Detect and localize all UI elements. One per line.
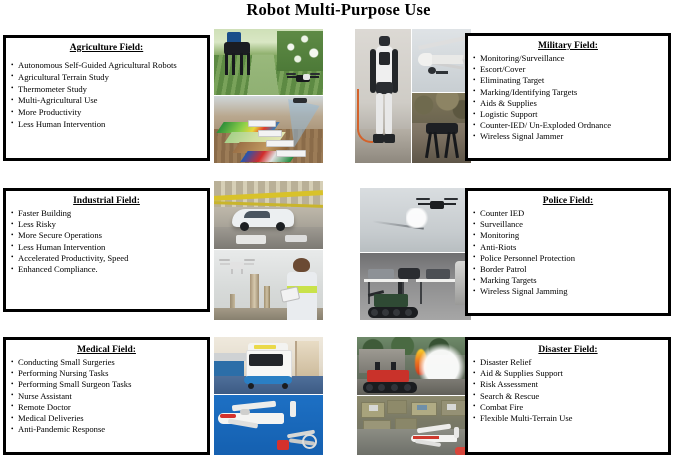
list-item: Agricultural Terrain Study xyxy=(11,72,202,84)
panel-list-industrial: Faster Building Less Risky More Secure O… xyxy=(11,208,202,275)
list-item: Monitoring xyxy=(473,230,663,241)
survey-aircraft-icon xyxy=(407,425,461,449)
panel-list-agriculture: Autonomous Self-Guided Agricultural Robo… xyxy=(11,60,202,131)
worker-icon xyxy=(285,258,321,320)
military-robot-dog-photo xyxy=(412,93,471,163)
panel-list-military: Monitoring/Surveillance Escort/Cover Eli… xyxy=(473,53,663,143)
list-item: More Secure Operations xyxy=(11,230,202,241)
agv-robot-icon xyxy=(236,235,266,244)
list-item: Logistic Support xyxy=(473,109,663,120)
eod-robot-icon xyxy=(368,288,420,318)
survey-drone-icon xyxy=(293,98,307,103)
list-item: More Productivity xyxy=(11,107,202,119)
panel-disaster: Disaster Field: Disaster Relief Aid & Su… xyxy=(465,337,671,455)
panel-title-medical: Medical Field: xyxy=(11,344,202,356)
list-item: Risk Assessment xyxy=(473,379,663,390)
list-item: Less Human Intervention xyxy=(11,119,202,131)
military-uav-photo xyxy=(412,29,471,92)
panel-police: Police Field: Counter IED Surveillance M… xyxy=(465,188,671,316)
counter-cabinet xyxy=(214,361,244,377)
list-item: Aid & Supplies Support xyxy=(473,368,663,379)
list-item: Marking Targets xyxy=(473,275,663,286)
list-item: Counter IED xyxy=(473,208,663,219)
uav-sensor-pod xyxy=(428,67,436,74)
list-item: Faster Building xyxy=(11,208,202,219)
panel-agriculture: Agriculture Field: Autonomous Self-Guide… xyxy=(3,35,210,161)
page-title: Robot Multi-Purpose Use xyxy=(0,0,677,20)
list-item: Escort/Cover xyxy=(473,64,663,75)
equipment-case xyxy=(398,268,420,279)
list-item: Wireless Signal Jamming xyxy=(473,286,663,297)
list-item: Surveillance xyxy=(473,219,663,230)
panel-industrial: Industrial Field: Faster Building Less R… xyxy=(3,188,210,312)
uav-nose xyxy=(418,53,432,66)
delivery-drone-icon xyxy=(277,430,317,452)
agriculture-top-photo xyxy=(214,29,323,95)
list-item: Police Personnel Protection xyxy=(473,253,663,264)
list-item: Less Human Intervention xyxy=(11,242,202,253)
industrial-bottom-photo xyxy=(214,250,323,320)
list-item: Multi-Agricultural Use xyxy=(11,95,202,107)
list-item: Combat Fire xyxy=(473,402,663,413)
humanoid-robot-icon xyxy=(370,36,398,154)
firefighting-robot-icon xyxy=(363,365,419,393)
quadruped-robot-icon xyxy=(220,32,254,80)
counter-top xyxy=(214,353,248,361)
layer-label xyxy=(266,140,294,147)
military-quadruped-icon xyxy=(422,119,462,159)
list-item: Aids & Supplies xyxy=(473,98,663,109)
layer-label xyxy=(248,120,276,127)
figure-root: Robot Multi-Purpose Use xyxy=(0,0,677,458)
disaster-bottom-photo xyxy=(357,396,471,455)
disaster-top-photo xyxy=(357,337,471,395)
panel-military: Military Field: Monitoring/Surveillance … xyxy=(465,33,671,161)
drone-icon xyxy=(287,72,319,86)
list-item: Remote Doctor xyxy=(11,402,202,413)
list-item: Anti-Riots xyxy=(473,242,663,253)
list-item: Flexible Multi-Terrain Use xyxy=(473,413,663,424)
police-bottom-photo xyxy=(360,253,471,320)
list-item: Accelerated Productivity, Speed xyxy=(11,253,202,264)
list-item: Thermometer Study xyxy=(11,84,202,96)
panel-medical: Medical Field: Conducting Small Surgerie… xyxy=(3,337,210,455)
hospital-delivery-robot-icon xyxy=(244,343,292,387)
agriculture-bottom-photo xyxy=(214,96,323,163)
uav-payload xyxy=(436,71,448,74)
hospital-door xyxy=(295,341,319,377)
list-item: Monitoring/Surveillance xyxy=(473,53,663,64)
table-leg xyxy=(420,282,422,304)
panel-title-industrial: Industrial Field: xyxy=(11,195,202,207)
list-item: Disaster Relief xyxy=(473,357,663,368)
building-roof xyxy=(369,405,378,411)
industrial-top-photo xyxy=(214,181,323,249)
panel-title-agriculture: Agriculture Field: xyxy=(11,42,202,54)
list-item: Anti-Pandemic Response xyxy=(11,424,202,435)
building-roof xyxy=(417,405,427,410)
inspection-drone-icon xyxy=(220,258,254,273)
medical-top-photo xyxy=(214,337,323,394)
layer-label xyxy=(258,130,282,137)
orchard-trees xyxy=(277,31,323,71)
panel-title-disaster: Disaster Field: xyxy=(473,344,663,356)
police-drone-icon xyxy=(418,196,456,212)
military-humanoid-photo xyxy=(355,29,411,163)
medical-bottom-photo xyxy=(214,395,323,455)
list-item: Conducting Small Surgeries xyxy=(11,357,202,368)
list-item: Nurse Assistant xyxy=(11,391,202,402)
list-item: Enhanced Compliance. xyxy=(11,264,202,275)
panel-title-police: Police Field: xyxy=(473,195,663,207)
police-top-photo xyxy=(360,188,471,252)
list-item: Marking/Identifying Targets xyxy=(473,87,663,98)
building-roof xyxy=(447,404,456,410)
list-item: Border Patrol xyxy=(473,264,663,275)
car-body-icon xyxy=(232,209,294,227)
equipment-case xyxy=(426,269,450,279)
list-item: Autonomous Self-Guided Agricultural Robo… xyxy=(11,60,202,72)
panel-list-disaster: Disaster Relief Aid & Supplies Support R… xyxy=(473,357,663,424)
layer-label xyxy=(276,150,306,157)
land-parcel xyxy=(387,400,407,414)
panel-list-medical: Conducting Small Surgeries Performing Nu… xyxy=(11,357,202,435)
list-item: Wireless Signal Jammer xyxy=(473,131,663,142)
panel-list-police: Counter IED Surveillance Monitoring Anti… xyxy=(473,208,663,298)
list-item: Search & Rescue xyxy=(473,391,663,402)
agv-robot-icon xyxy=(285,235,307,242)
panel-title-military: Military Field: xyxy=(473,40,663,52)
list-item: Performing Nursing Tasks xyxy=(11,368,202,379)
equipment-case xyxy=(368,269,394,279)
list-item: Counter-IED/ Un-Exploded Ordnance xyxy=(473,120,663,131)
list-item: Less Risky xyxy=(11,219,202,230)
list-item: Medical Deliveries xyxy=(11,413,202,424)
list-item: Eliminating Target xyxy=(473,75,663,86)
list-item: Performing Small Surgeon Tasks xyxy=(11,379,202,390)
